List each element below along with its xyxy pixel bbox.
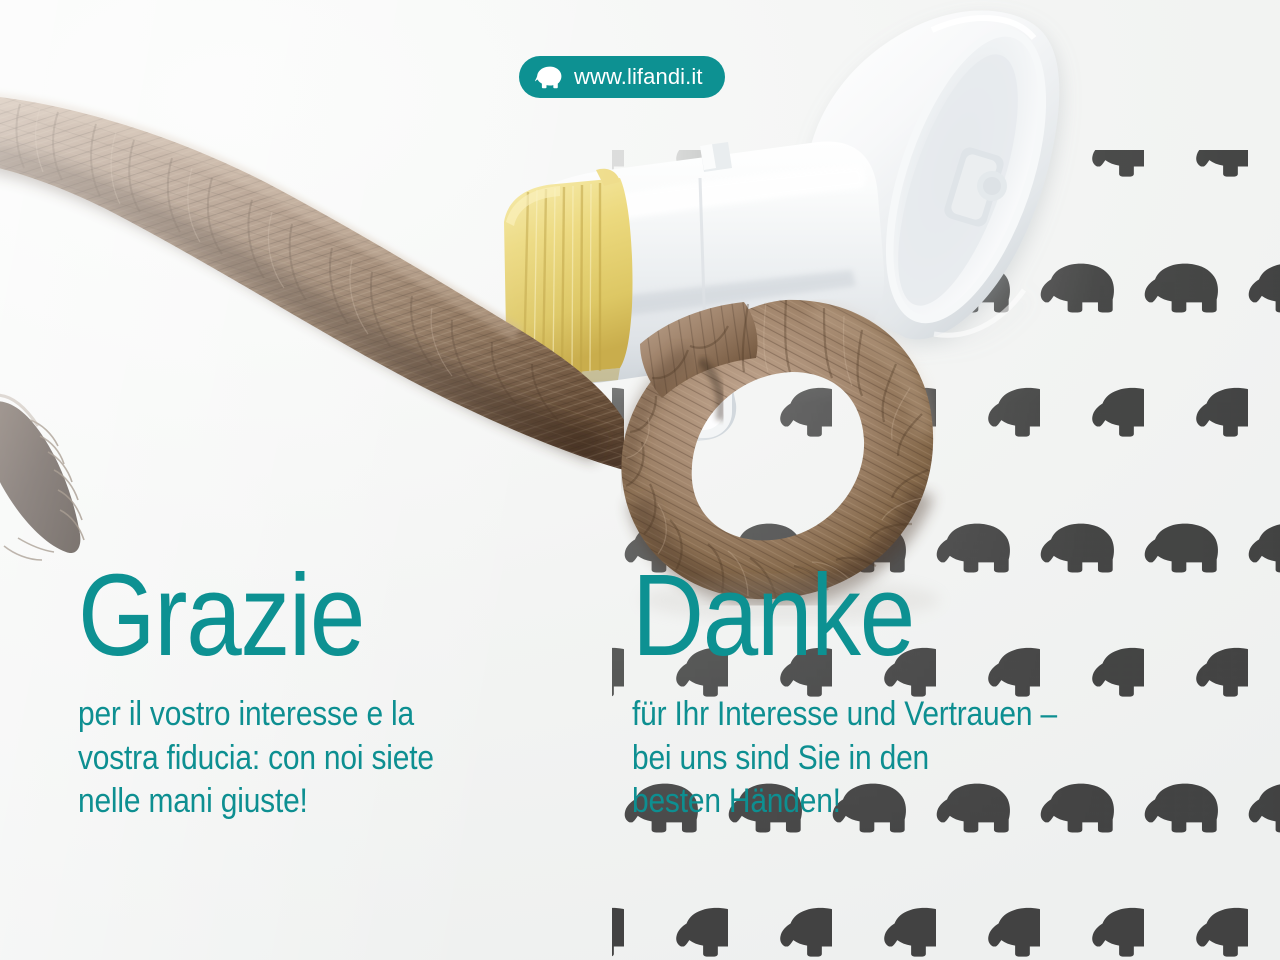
subline-italian: per il vostro interesse e la vostra fidu… xyxy=(78,693,502,824)
subline-line: nelle mani giuste! xyxy=(78,780,502,824)
poster-canvas: www.lifandi.it Grazie per il vostro inte… xyxy=(0,0,1280,960)
subline-german: für Ihr Interesse und Vertrauen – bei un… xyxy=(632,693,657,824)
message-columns: Grazie per il vostro interesse e la vost… xyxy=(0,560,1280,824)
subline-line: bei uns sind Sie in den xyxy=(632,737,657,781)
elephant-icon xyxy=(535,66,563,89)
subline-line: für Ihr Interesse und Vertrauen – xyxy=(632,693,657,737)
headline-italian: Grazie xyxy=(78,560,493,671)
subline-line: per il vostro interesse e la xyxy=(78,693,502,737)
subline-line: vostra fiducia: con noi siete xyxy=(78,737,502,781)
subline-line: besten Händen! xyxy=(632,780,657,824)
website-url-text: www.lifandi.it xyxy=(574,66,703,88)
website-url-badge[interactable]: www.lifandi.it xyxy=(519,56,725,98)
headline-german: Danke xyxy=(632,560,656,671)
